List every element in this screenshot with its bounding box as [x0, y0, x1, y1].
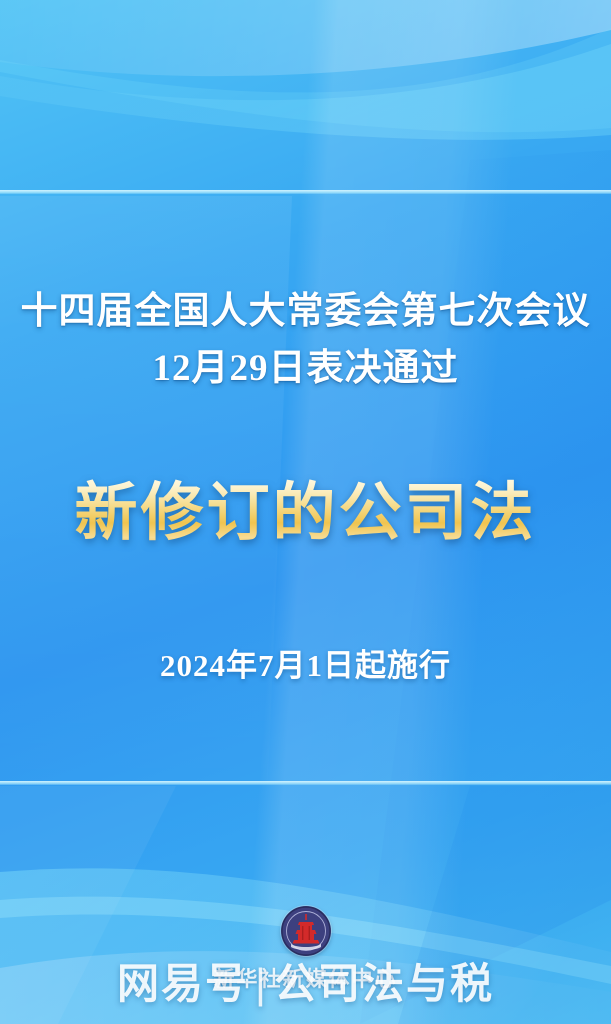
poster-canvas: 十四届全国人大常委会第七次会议 12月29日表决通过 新修订的公司法 2024年…	[0, 0, 611, 1024]
headline-line-2: 12月29日表决通过	[0, 340, 611, 397]
watermark-brand: 网易号	[117, 960, 249, 1007]
xinhua-emblem-icon	[281, 906, 331, 956]
watermark-separator: |	[249, 960, 274, 1007]
watermark-account: 公司法与税	[274, 960, 494, 1007]
subtitle: 2024年7月1日起施行	[0, 644, 611, 688]
main-title: 新修订的公司法	[0, 472, 611, 554]
headline: 十四届全国人大常委会第七次会议 12月29日表决通过	[0, 283, 611, 397]
headline-line-1: 十四届全国人大常委会第七次会议	[21, 291, 591, 332]
poster-content: 十四届全国人大常委会第七次会议 12月29日表决通过 新修订的公司法 2024年…	[0, 0, 611, 1024]
logo-container	[0, 906, 611, 956]
watermark: 网易号|公司法与税	[0, 958, 611, 1010]
